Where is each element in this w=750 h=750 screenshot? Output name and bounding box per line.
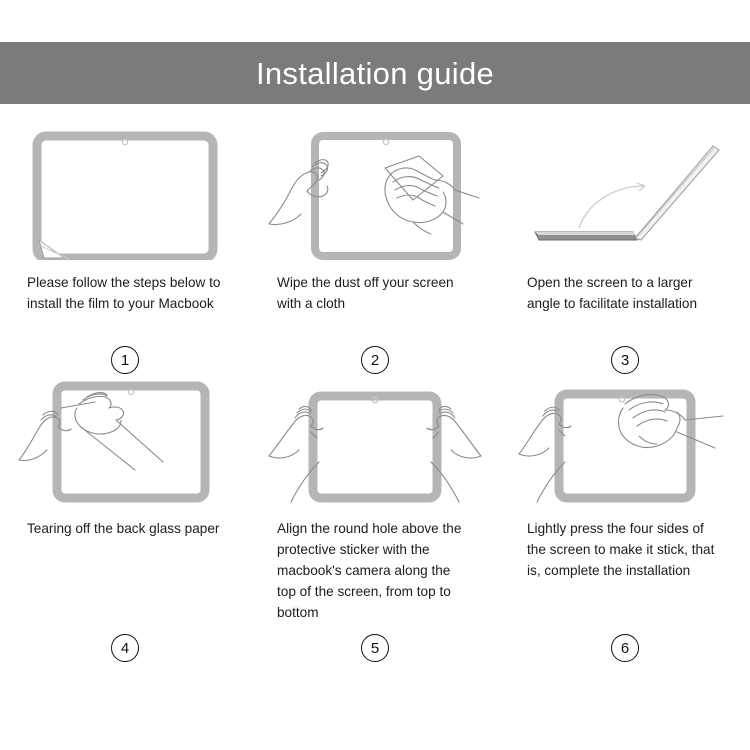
illustration-two-hands-aligning-film-to-screen [267, 374, 483, 506]
illustration-tablet-with-peeling-film-corner [17, 128, 233, 260]
step-caption: Tearing off the back glass paper [27, 518, 223, 626]
header-banner: Installation guide [0, 42, 750, 104]
step-number-badge: 2 [361, 346, 389, 374]
step-caption: Please follow the steps below to install… [27, 272, 223, 338]
step-item: Lightly press the four sides of the scre… [500, 374, 750, 662]
step-caption: Wipe the dust off your screen with a clo… [277, 272, 473, 338]
step-item: Tearing off the back glass paper 4 [0, 374, 250, 662]
installation-guide-page: Installation guide Please follow the ste… [0, 0, 750, 750]
step-item: Please follow the steps below to install… [0, 128, 250, 374]
step-number-wrapper: 2 [250, 346, 500, 374]
step-number-badge: 6 [611, 634, 639, 662]
step-item: Align the round hole above the protectiv… [250, 374, 500, 662]
step-caption: Lightly press the four sides of the scre… [527, 518, 723, 626]
illustration-hands-tearing-back-paper [17, 374, 233, 506]
page-title: Installation guide [256, 58, 494, 89]
step-caption: Open the screen to a larger angle to fac… [527, 272, 723, 338]
illustration-laptop-opening-angle-side-view [517, 128, 733, 260]
steps-grid: Please follow the steps below to install… [0, 128, 750, 662]
step-number-wrapper: 1 [0, 346, 250, 374]
step-number-badge: 4 [111, 634, 139, 662]
step-number-wrapper: 3 [500, 346, 750, 374]
step-item: Open the screen to a larger angle to fac… [500, 128, 750, 374]
step-number-wrapper: 5 [250, 634, 500, 662]
step-number-badge: 5 [361, 634, 389, 662]
step-caption: Align the round hole above the protectiv… [277, 518, 473, 626]
step-number-badge: 1 [111, 346, 139, 374]
illustration-hand-pressing-screen-flat [517, 374, 733, 506]
step-number-badge: 3 [611, 346, 639, 374]
step-number-wrapper: 6 [500, 634, 750, 662]
step-item: Wipe the dust off your screen with a clo… [250, 128, 500, 374]
illustration-hand-wiping-screen-with-cloth [267, 128, 483, 260]
step-number-wrapper: 4 [0, 634, 250, 662]
